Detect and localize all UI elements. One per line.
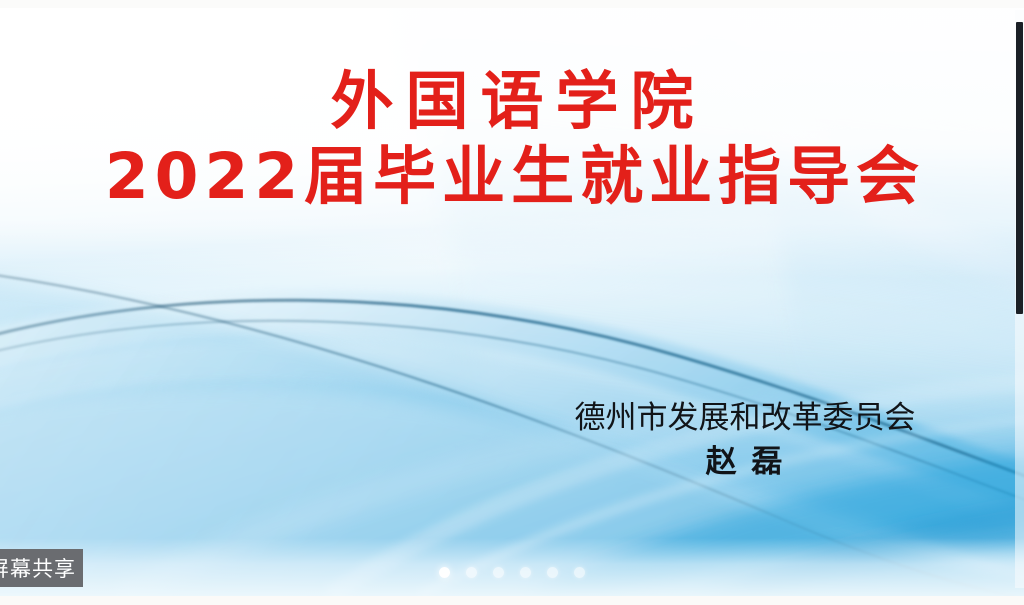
vertical-scrollbar-track[interactable] bbox=[1015, 10, 1024, 588]
pagination-dot[interactable] bbox=[439, 567, 450, 578]
screen-share-viewer: 外国语学院 2022届毕业生就业指导会 德州市发展和改革委员会 赵 磊 屏幕共享 bbox=[0, 0, 1024, 605]
title-line-1: 外国语学院 bbox=[0, 68, 1024, 136]
screen-share-badge: 屏幕共享 bbox=[0, 549, 83, 587]
slide-pagination[interactable] bbox=[0, 567, 1024, 578]
slide-title: 外国语学院 2022届毕业生就业指导会 bbox=[0, 68, 1024, 214]
presenter-info: 德州市发展和改革委员会 赵 磊 bbox=[510, 400, 980, 482]
pagination-dot[interactable] bbox=[574, 567, 585, 578]
letterbox-bottom bbox=[0, 596, 1024, 605]
presenter-organization: 德州市发展和改革委员会 bbox=[510, 400, 980, 438]
pagination-dot[interactable] bbox=[520, 567, 531, 578]
presentation-slide[interactable]: 外国语学院 2022届毕业生就业指导会 德州市发展和改革委员会 赵 磊 bbox=[0, 8, 1024, 596]
presenter-name: 赵 磊 bbox=[510, 444, 980, 482]
pagination-dot[interactable] bbox=[466, 567, 477, 578]
vertical-scrollbar-thumb[interactable] bbox=[1016, 22, 1023, 314]
pagination-dot[interactable] bbox=[493, 567, 504, 578]
letterbox-top bbox=[0, 0, 1024, 8]
pagination-dot[interactable] bbox=[547, 567, 558, 578]
title-line-2: 2022届毕业生就业指导会 bbox=[0, 140, 1024, 214]
